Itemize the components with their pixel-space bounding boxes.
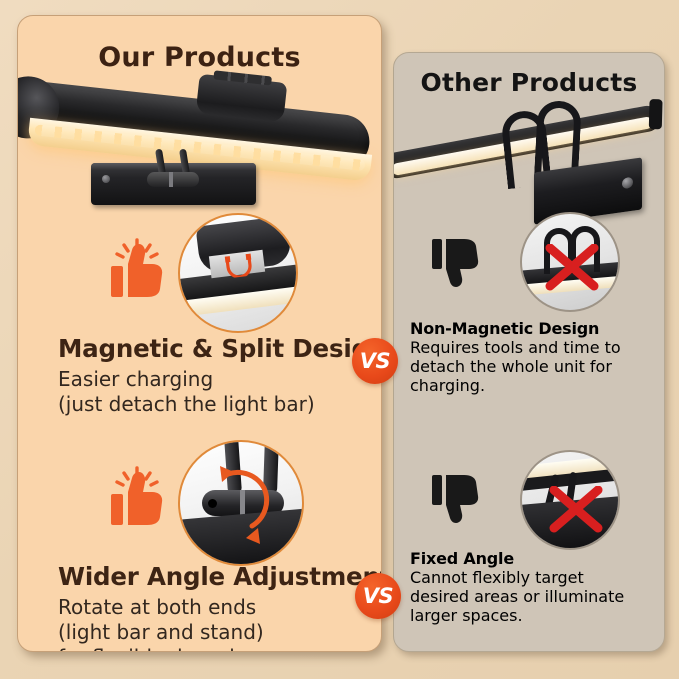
thumbs-down-icon xyxy=(431,235,479,289)
our-detail-circle-rotation xyxy=(178,440,304,566)
other-feature-2-title: Fixed Angle xyxy=(410,549,624,568)
rotation-arrow-icon xyxy=(208,458,284,552)
magnet-icon xyxy=(223,253,255,278)
vs-badge-1: VS xyxy=(352,338,398,384)
our-products-panel: Our Products xyxy=(17,15,382,652)
thumbs-down-icon xyxy=(431,471,479,525)
our-feature-1-text: Magnetic & Split Design Easier charging … xyxy=(58,334,382,417)
wall-bracket-icon xyxy=(91,149,256,205)
our-feature-2-text: Wider Angle Adjustment Rotate at both en… xyxy=(58,562,382,652)
thumbs-up-icon xyxy=(110,466,166,528)
other-detail-circle-non-magnetic xyxy=(520,212,620,312)
thumbs-up-icon xyxy=(110,238,166,300)
our-feature-2-title: Wider Angle Adjustment xyxy=(58,562,382,592)
our-feature-1-title: Magnetic & Split Design xyxy=(58,334,382,364)
our-product-hero-image xyxy=(17,61,382,226)
other-bar-end-cap-icon xyxy=(649,99,663,129)
other-feature-2-text: Fixed Angle Cannot flexibly target desir… xyxy=(410,549,624,625)
other-feature-1-desc: Requires tools and time to detach the wh… xyxy=(410,338,621,395)
our-detail-circle-magnetic xyxy=(178,213,298,333)
our-feature-1-desc: Easier charging (just detach the light b… xyxy=(58,367,382,417)
other-feature-1-title: Non-Magnetic Design xyxy=(410,319,621,338)
vs-badge-2: VS xyxy=(355,573,401,619)
other-products-panel: Other Products Non-Magnetic Design xyxy=(393,52,665,652)
other-product-hero-image xyxy=(394,89,665,229)
our-feature-2-desc: Rotate at both ends (light bar and stand… xyxy=(58,595,382,652)
other-feature-2-desc: Cannot flexibly target desired areas or … xyxy=(410,568,624,625)
other-detail-circle-fixed-angle xyxy=(520,450,620,550)
other-feature-1-text: Non-Magnetic Design Requires tools and t… xyxy=(410,319,621,395)
